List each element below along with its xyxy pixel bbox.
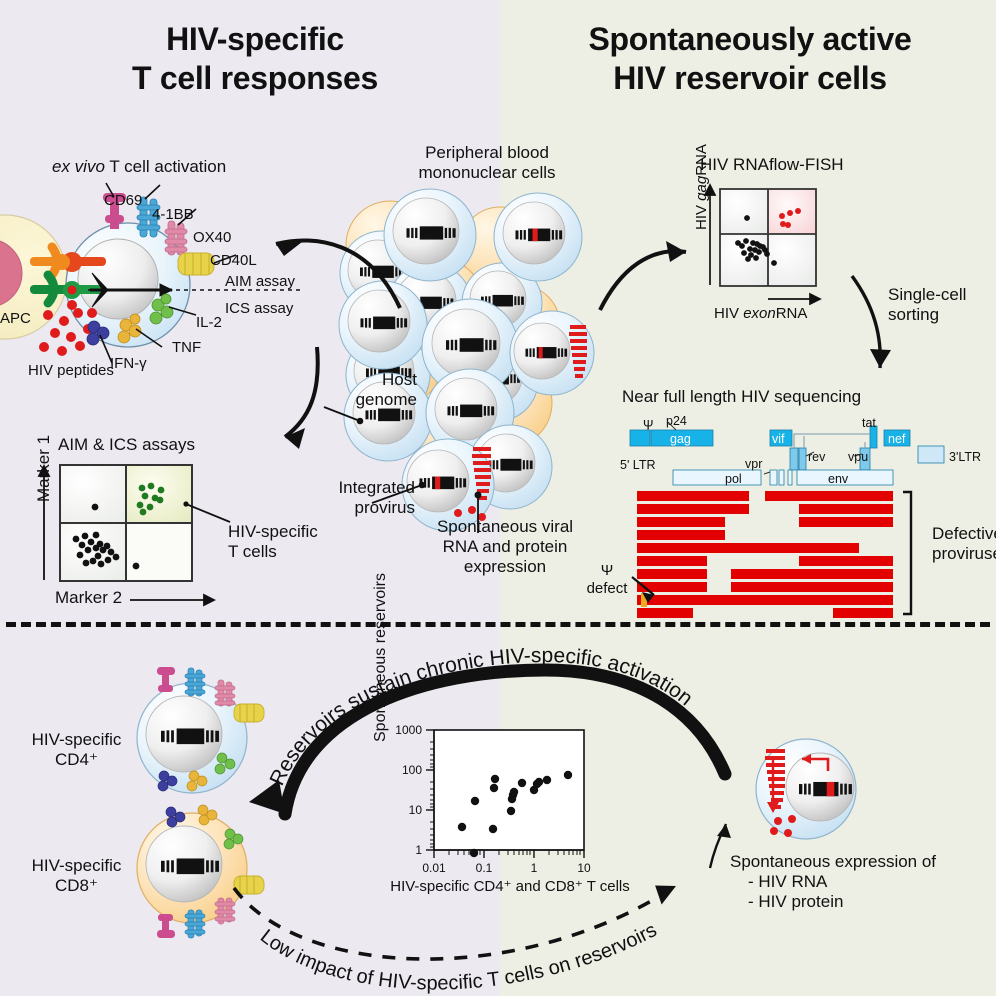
pbmc-blue-cell-infected [494,193,582,281]
ytick-1000: 1000 [395,723,422,737]
gene-pol-label: pol [725,472,742,486]
title-left-line2: T cell responses [60,59,450,98]
host-genome-line2: genome [337,390,417,410]
gene-pol-box [673,470,761,485]
gene-env-label: env [828,472,848,486]
ox40-label: OX40 [193,229,231,247]
defective-proviruses-bars [635,490,925,616]
spontaneous-line1: Spontaneous viral [425,517,585,537]
title-left-line1: HIV-specific [60,20,450,59]
xtick-10: 10 [577,861,591,875]
cd4-41bb-icon [185,668,205,696]
pbmc-cell-expressing-rna [510,311,594,395]
correlation-plot-xaxis [434,850,584,858]
pbmc-title-line1: Peripheral blood [392,143,582,163]
defective-proviruses-label: Defective proviruses [932,524,996,564]
aim-plot-ylabel: Marker 1 [34,435,54,502]
psi-defect-symbol: Ψ [576,562,638,580]
cd69-label: CD69 [104,192,142,210]
xtick-1: 1 [531,861,538,875]
arrow-tcell-to-aim-plot [225,345,335,455]
gene-5ltr-box [630,430,650,446]
spontaneous-line2: RNA and protein [425,537,585,557]
splice-lines [794,434,870,448]
ytick-10: 10 [409,803,423,817]
integrated-provirus-label: Integrated provirus [325,478,415,518]
reservoir-cell-expressing [740,735,870,855]
arrow-to-reservoir-cell [700,820,740,870]
provirus-bar-row [637,517,893,527]
provirus-bar-row-with-defect [637,593,893,607]
provirus-bar-row [637,556,893,566]
gene-p24-label: p24 [666,414,687,428]
cd4-label-line2: CD4⁺ [14,750,139,770]
title-left: HIV-specific T cell responses [60,20,450,98]
ex-vivo-heading: ex vivo T cell activation [52,157,226,177]
sorting-line1: Single-cell [888,285,966,305]
cd8-label: HIV-specific CD8⁺ [14,856,139,896]
psi-defect-text: defect [576,580,638,598]
pbmc-title-line2: mononuclear cells [392,163,582,183]
defective-bracket [903,492,911,614]
ex-vivo-italic: ex vivo [52,157,105,176]
xtick-01: 0.1 [476,861,493,875]
fish-plot-xlabel: HIV exonRNA [714,305,807,323]
fish-plot-quadrants [720,189,816,286]
xtick-001: 0.01 [422,861,446,875]
provirus-bar-row [637,530,725,540]
fish-xlabel-post: RNA [776,305,808,322]
gene-vpr-box1 [770,470,777,485]
aim-callout-line1: HIV-specific [228,522,318,542]
ex-vivo-rest: T cell activation [105,157,226,176]
provirus-bar-row [637,543,859,553]
gene-5ltr-label: 5' LTR [620,458,656,472]
host-genome-line1: Host [337,370,417,390]
arrow-pbmc-to-tcell [250,220,410,350]
gene-rev-label: rev [808,450,825,464]
fish-plot-title: HIV RNAflow-FISH [700,155,844,175]
spontaneous-expr-item2: - HIV protein [730,892,996,912]
hiv-peptides-label: HIV peptides [28,362,114,380]
spontaneous-expr-title: Spontaneous expression of [730,852,996,872]
correlation-plot-ylabel: Spontaneous reservoirs [372,718,390,742]
provirus-bar-row [637,491,893,501]
gene-gag-label: gag [670,432,691,446]
provirus-bar-row [637,582,893,592]
host-genome-label: Host genome [337,370,417,410]
cd8-cd69-icon [157,914,175,938]
title-right-line1: Spontaneously active [525,20,975,59]
correlation-ylabel-text: Spontaneous reservoirs [372,573,389,742]
gene-vpr-box2 [779,470,784,485]
integrated-provirus-line2: provirus [325,498,415,518]
fish-xlabel-pre: HIV [714,305,743,322]
cd8-label-line1: HIV-specific [14,856,139,876]
fish-ylabel-pre: HIV [693,201,710,230]
ifng-label: IFN-γ [110,355,147,373]
gene-vpr-box3 [788,470,792,485]
correlation-plot-yaxis [426,730,434,850]
reservoir-correlation-plot: 1000 100 10 1 0.01 0.1 1 10 [372,722,642,892]
apc-label: APC [0,310,31,328]
aim-ics-plot-title: AIM & ICS assays [58,435,195,455]
fish-xlabel-italic: exon [743,305,776,322]
cd4-label-line1: HIV-specific [14,730,139,750]
aim-plot-callout: HIV-specific T cells [228,522,318,562]
psi-defect-leader-arrow [630,575,666,605]
title-right-line2: HIV reservoir cells [525,59,975,98]
gene-vif-label: vif [772,432,785,446]
gene-tat-label: tat [862,416,876,430]
provirus-bar-row [637,569,893,579]
il2-label: IL-2 [196,314,222,332]
gene-rev-box1 [790,448,798,470]
gene-vpr-label: vpr [745,457,762,471]
ox40-marker-icon [165,221,187,255]
single-cell-sorting-label: Single-cell sorting [888,285,966,325]
gene-vpu-label: vpu [848,450,868,464]
gene-3ltr-box [918,446,944,463]
cd8-label-line2: CD8⁺ [14,876,139,896]
aim-plot-quadrants [60,465,192,581]
tnf-label: TNF [172,339,201,357]
defective-line2: proviruses [932,544,996,564]
figure-root: HIV-specific T cell responses Spontaneou… [0,0,996,996]
integrated-provirus-line1: Integrated [325,478,415,498]
cd4-cd69-icon [157,667,175,692]
spontaneous-expr-item1: - HIV RNA [730,872,996,892]
aim-plot-xlabel: Marker 2 [55,588,122,608]
ytick-100: 100 [402,763,422,777]
defective-line1: Defective [932,524,996,544]
cd40l-marker-icon [178,253,214,275]
bb41-label: 4-1BB [152,206,194,224]
gene-rev-box2 [799,448,806,470]
fish-ylabel-post: RNA [693,144,710,176]
spontaneous-line3: expression [425,557,585,577]
gene-3ltr-label: 3'LTR [949,450,981,464]
fish-ylabel-italic: gag [693,176,710,201]
sorting-line2: sorting [888,305,966,325]
cd4-label: HIV-specific CD4⁺ [14,730,139,770]
spontaneous-expression-block: Spontaneous expression of - HIV RNA - HI… [730,852,996,912]
section-divider [6,622,990,627]
pbmc-title: Peripheral blood mononuclear cells [392,143,582,183]
spontaneous-expression-label: Spontaneous viral RNA and protein expres… [425,517,585,577]
aim-callout-line2: T cells [228,542,318,562]
ytick-1: 1 [415,843,422,857]
gene-psi-label: Ψ [643,418,653,432]
provirus-bar-row [637,504,893,514]
fish-plot-ylabel: HIV gagRNA [693,144,711,230]
sequencing-title: Near full length HIV sequencing [622,387,861,407]
correlation-plot-frame [434,730,584,850]
psi-defect-label: Ψ defect [576,562,638,597]
correlation-plot-xlabel: HIV-specific CD4⁺ and CD8⁺ T cells [385,878,635,896]
title-right: Spontaneously active HIV reservoir cells [525,20,975,98]
gene-nef-label: nef [888,432,905,446]
